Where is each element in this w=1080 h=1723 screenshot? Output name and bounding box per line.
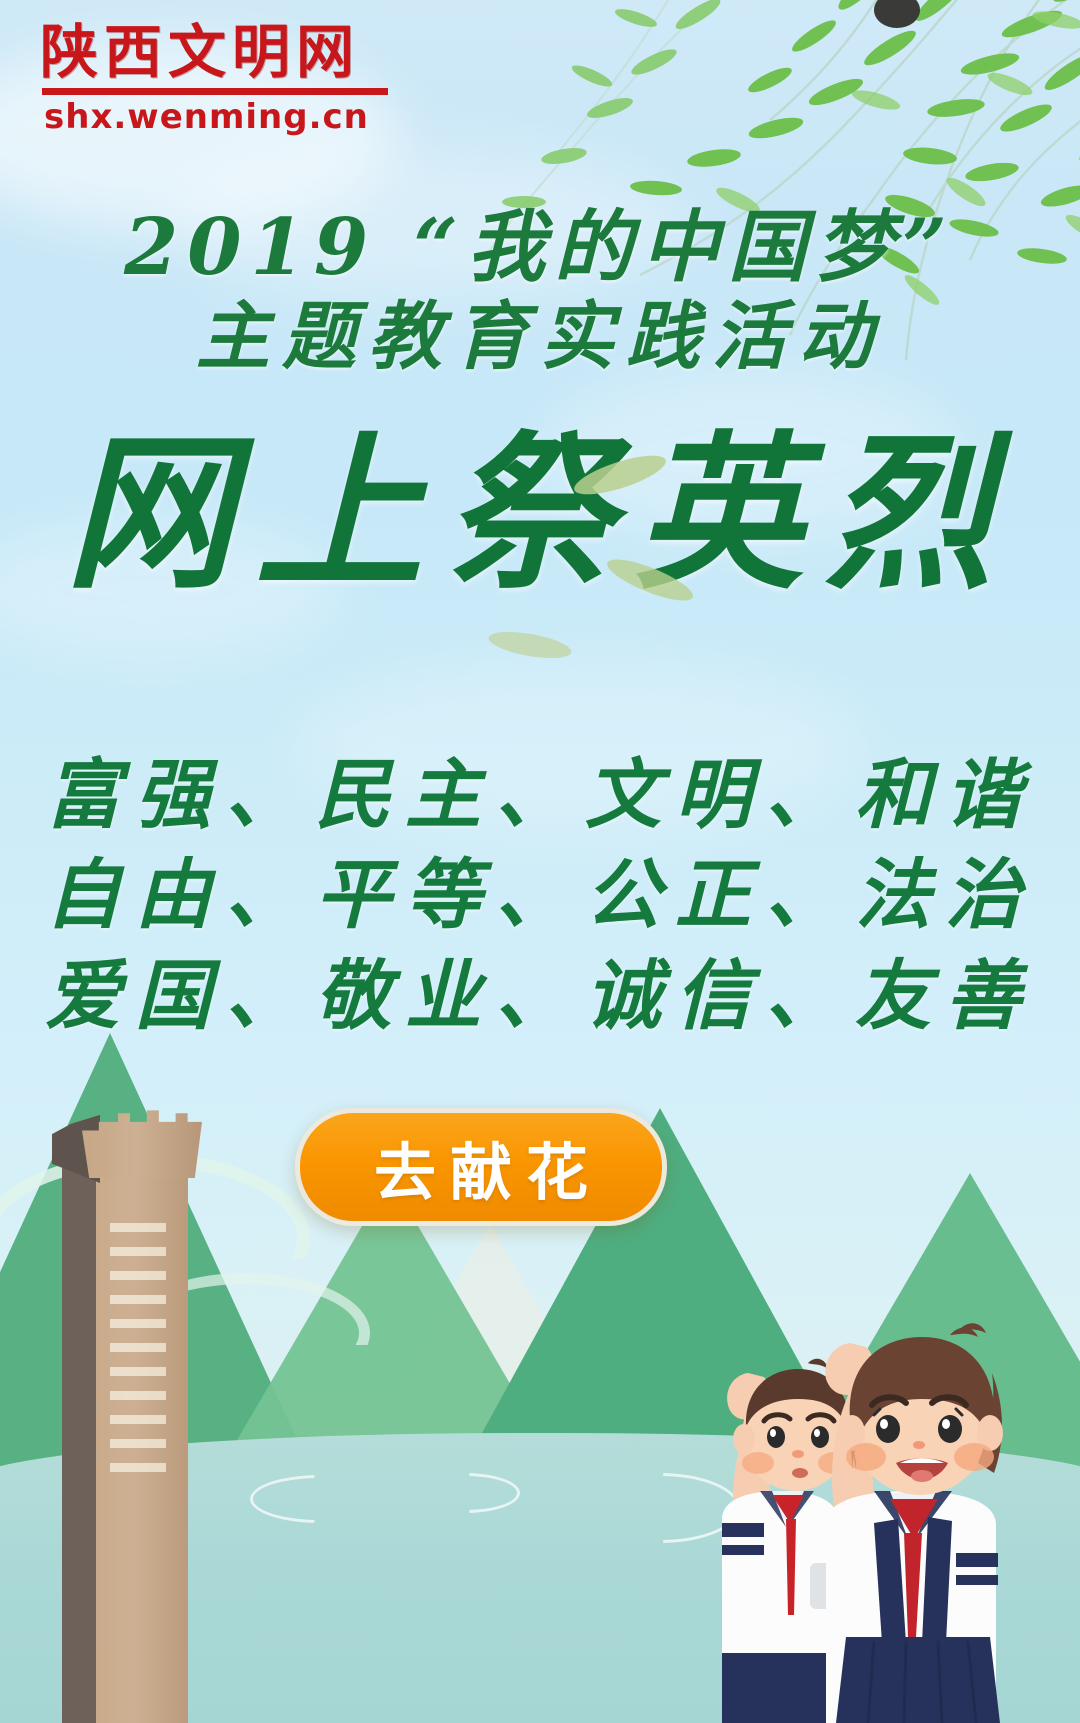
saluting-students-illustration [660,1223,1080,1723]
campaign-kicker-line1: 2019 “我的中国梦” [0,205,1080,291]
logo-divider [42,88,388,95]
monument-inscription [110,1223,166,1473]
core-values-line: 富强、民主、文明、和谐 [0,745,1080,845]
camera-notch-icon [874,0,920,28]
site-logo-url: shx.wenming.cn [44,97,440,137]
offer-flowers-button[interactable]: 去献花 [295,1108,667,1226]
offer-flowers-button-label: 去献花 [360,1122,602,1212]
headline-block: 2019 “我的中国梦” 主题教育实践活动 网上祭英烈 [0,205,1080,601]
site-logo[interactable]: 陕西文明网 shx.wenming.cn [40,22,440,137]
martyrs-monument-icon [38,1103,238,1723]
monument-cap [82,1106,202,1178]
student-girl [825,1323,1003,1723]
core-values-line: 自由、平等、公正、法治 [0,845,1080,945]
poster-root: 陕西文明网 shx.wenming.cn 2019 “我的中国梦” 主题教育实践… [0,0,1080,1723]
site-logo-name: 陕西文明网 [40,22,440,83]
campaign-kicker-line2: 主题教育实践活动 [0,295,1080,381]
page-title: 网上祭英烈 [0,425,1080,601]
monument-shadow-side [62,1168,98,1723]
